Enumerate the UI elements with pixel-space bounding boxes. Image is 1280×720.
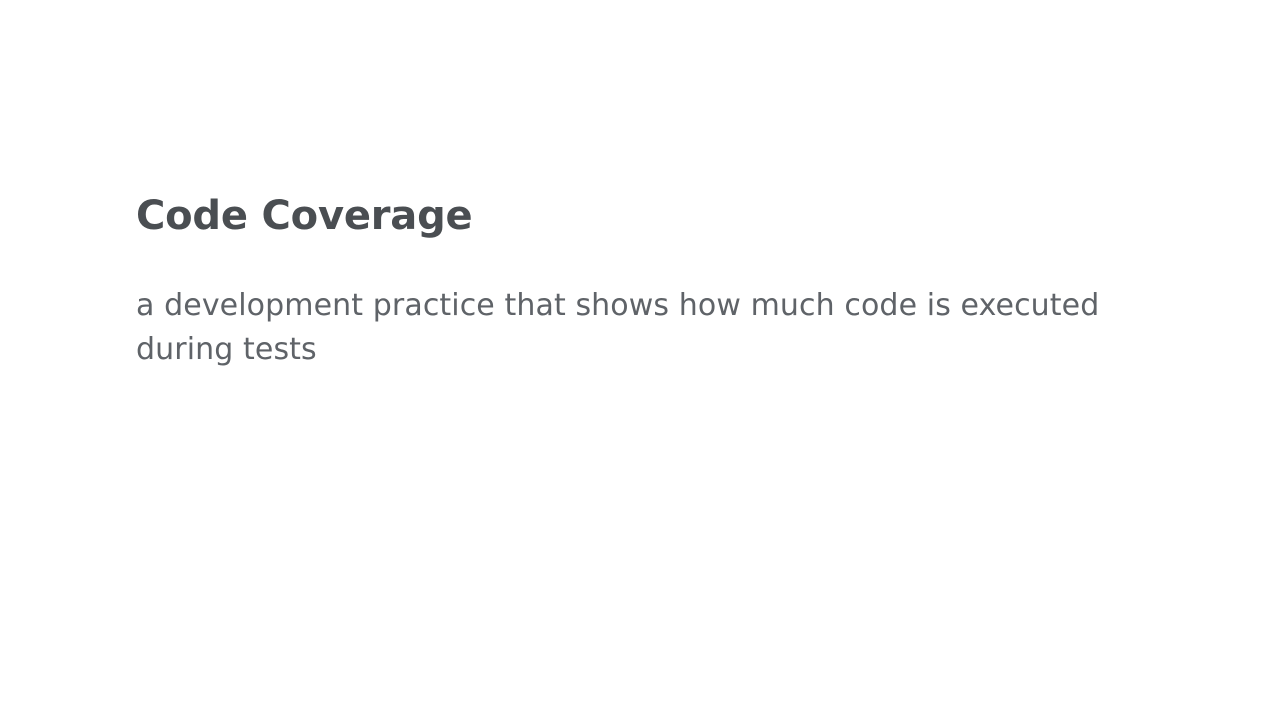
page-title: Code Coverage: [136, 190, 1152, 242]
slide-content-block: Code Coverage a development practice tha…: [136, 190, 1152, 372]
slide-body-text: a development practice that shows how mu…: [136, 284, 1148, 372]
slide-canvas: Code Coverage a development practice tha…: [0, 0, 1280, 720]
